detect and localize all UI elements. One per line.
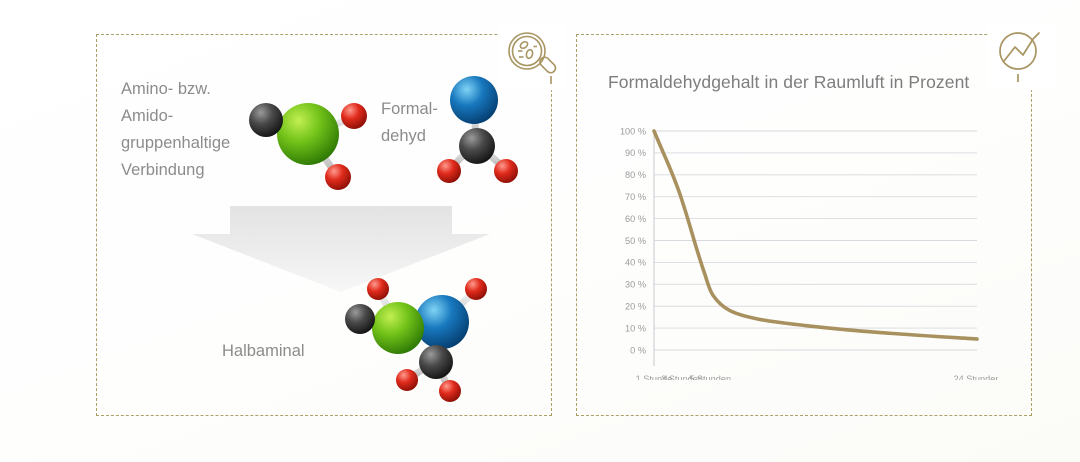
y-axis-tick-label: 30 % [625,280,646,290]
line-chart: 0 %10 %20 %30 %40 %50 %60 %70 %80 %90 %1… [598,118,998,380]
chart-data-line [654,131,977,339]
y-axis-tick-label: 60 % [625,214,646,224]
slide-canvas: Amino- bzw. Amido- gruppenhaltige Verbin… [0,0,1080,462]
y-axis-tick-label: 70 % [625,192,646,202]
y-axis-tick-label: 80 % [625,170,646,180]
label-halbaminal: Halbaminal [222,338,305,365]
y-axis-tick-label: 10 % [625,323,646,333]
x-axis-tick-label: 5 Stunden [689,374,731,380]
y-axis-tick-label: 100 % [620,126,646,136]
halbaminal-molecule [326,272,506,410]
y-axis-tick-label: 90 % [625,148,646,158]
x-axis-tick-label: 24 Stunden [953,374,998,380]
y-axis-tick-label: 20 % [625,302,646,312]
amino-compound-molecule [236,82,376,194]
trend-line-circle-icon [988,22,1056,90]
y-axis-tick-label: 0 % [630,345,646,355]
y-axis-tick-label: 40 % [625,258,646,268]
y-axis-tick-label: 50 % [625,236,646,246]
chart-title: Formaldehydgehalt in der Raumluft in Pro… [608,72,969,93]
formaldehyde-molecule [432,68,528,186]
